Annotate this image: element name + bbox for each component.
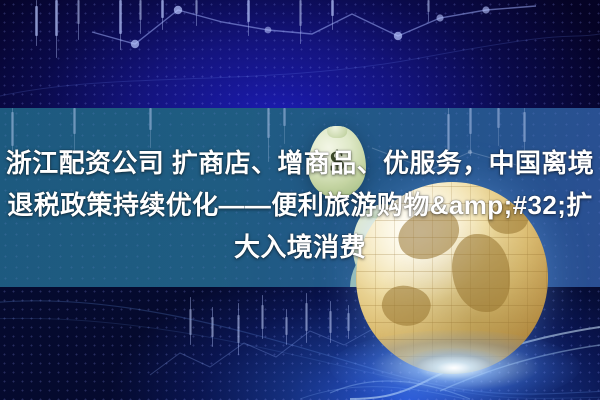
banner-image: $ $ <box>0 0 600 400</box>
background-band-top <box>0 0 600 108</box>
line-trend-chart-top <box>0 0 600 108</box>
page-title: 浙江配资公司 扩商店、增商品、优服务，中国离境退税政策持续优化——便利旅游购物&… <box>0 142 600 268</box>
